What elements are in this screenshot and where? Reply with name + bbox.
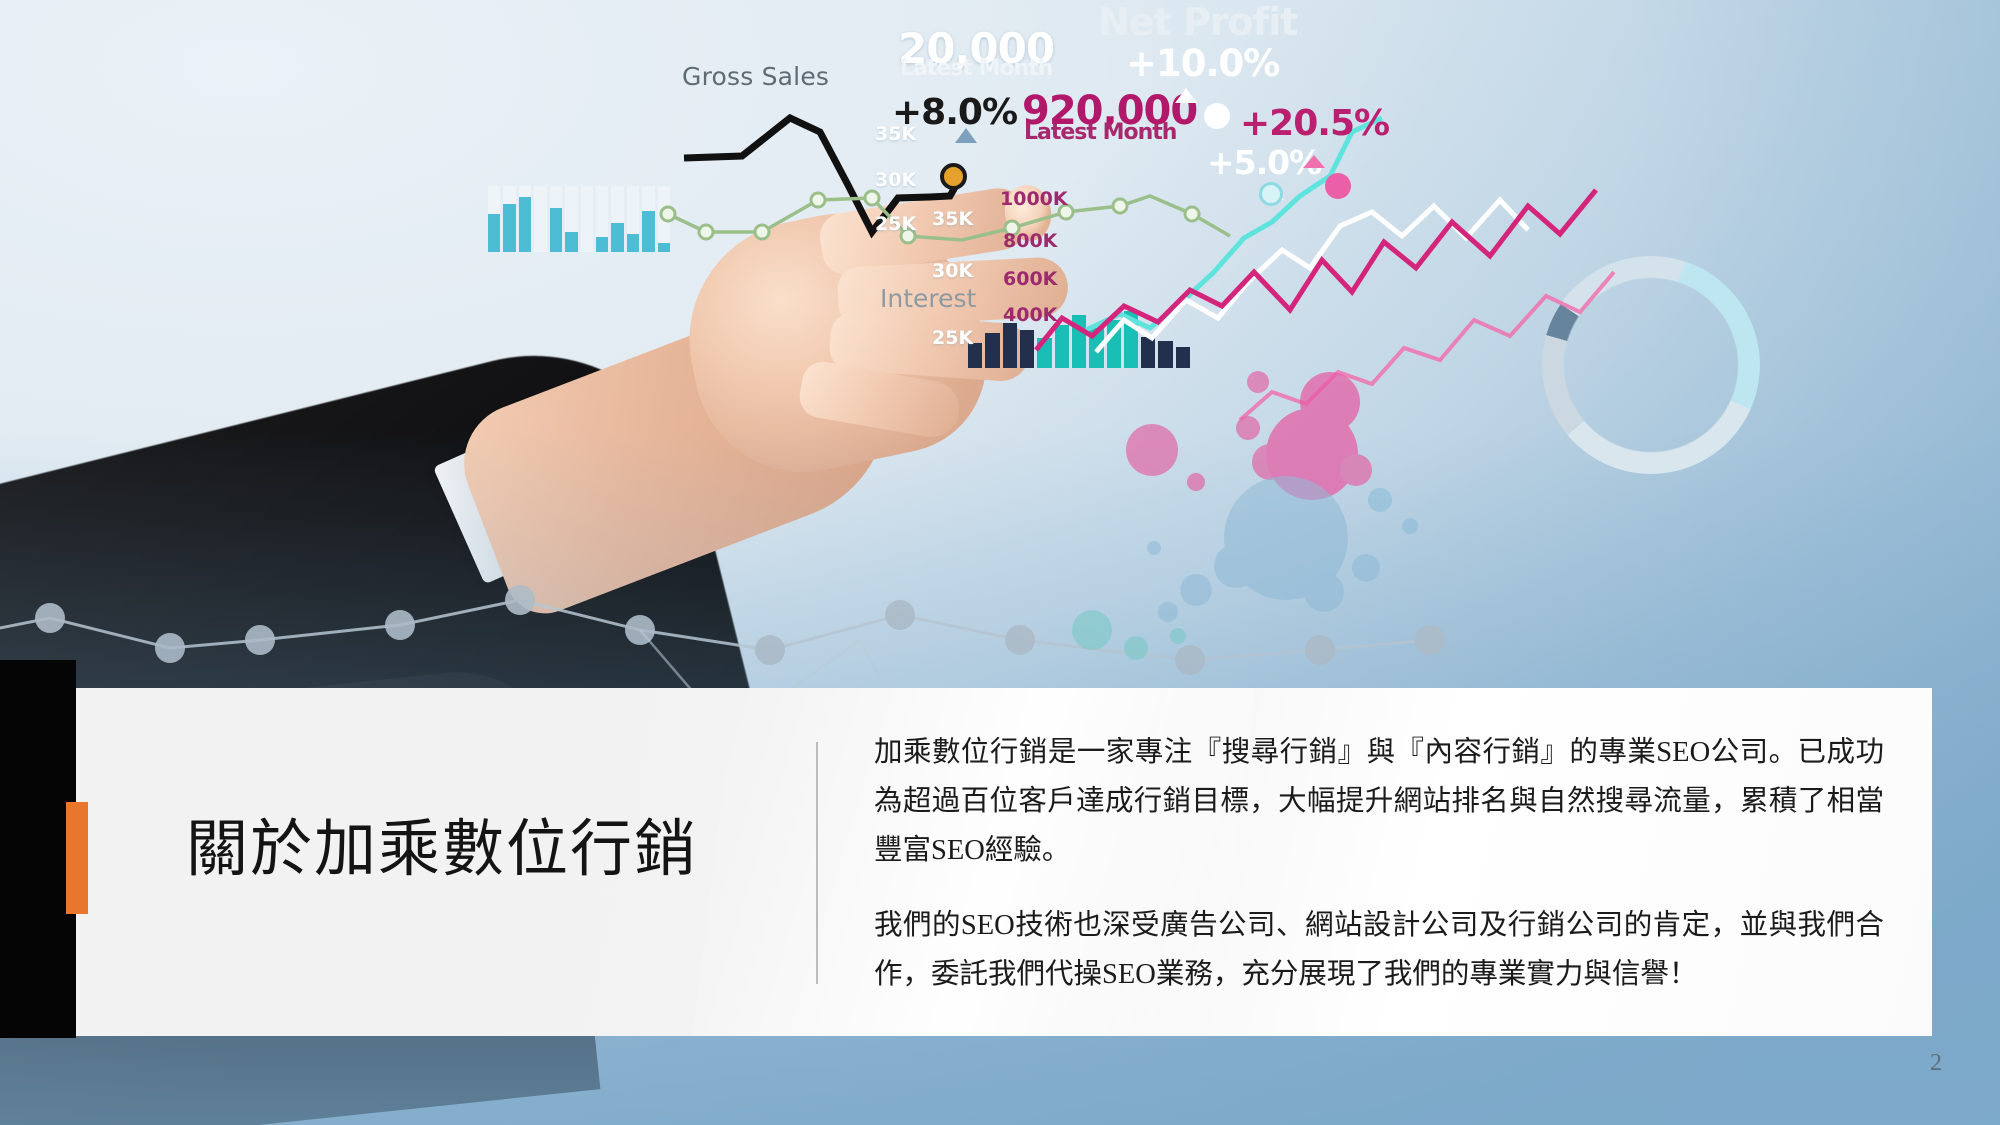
axis-label-primary-30k: 30K (875, 169, 916, 191)
gross-sales-label: Gross Sales (682, 62, 829, 91)
paragraph-2: 我們的SEO技術也深受廣告公司、網站設計公司及行銷公司的肯定，並與我們合作，委託… (874, 901, 1884, 999)
orange-accent-bar (66, 802, 88, 914)
donut-chart (1542, 256, 1760, 474)
paragraph-1: 加乘數位行銷是一家專注『搜尋行銷』與『內容行銷』的專業SEO公司。已成功為超過百… (874, 728, 1884, 875)
body-text-column: 加乘數位行銷是一家專注『搜尋行銷』與『內容行銷』的專業SEO公司。已成功為超過百… (874, 728, 1884, 999)
revenue-value: 920,000 (1022, 88, 1197, 134)
white-marker-dot (1204, 103, 1230, 129)
cyan-bar-chart (488, 186, 670, 252)
cyan-marker-dot (1259, 182, 1283, 206)
up-arrow-icon-white-2 (1262, 185, 1284, 200)
pink-marker-dot (1325, 173, 1351, 199)
revenue-change: +20.5% (1240, 103, 1389, 144)
axis-label-primary-35k: 35K (875, 123, 916, 145)
secondary-change: +5.0% (1207, 143, 1321, 182)
gross-sales-change: +8.0% (892, 92, 1017, 133)
revenue-caption: Latest Month (1024, 120, 1176, 145)
slide-root: Gross Sales Interest Net Profit +10.0% 2… (0, 0, 2000, 1125)
page-number: 2 (1930, 1050, 1942, 1077)
net-profit-line (1086, 118, 1382, 330)
gross-sales-caption: Latest Month (900, 56, 1052, 81)
vertical-divider (816, 742, 818, 984)
gross-sales-value: 20,000 (898, 24, 1054, 73)
up-arrow-icon-blue (955, 128, 977, 143)
left-black-bar (0, 660, 76, 1038)
up-arrow-icon-white (1175, 88, 1197, 103)
orange-marker-dot (940, 163, 967, 190)
growth-pink-line (1036, 190, 1596, 350)
trend-white-line (1096, 200, 1528, 352)
lower-pink-line (1240, 272, 1614, 420)
net-profit-label: Net Profit (1098, 0, 1297, 44)
up-arrow-icon-pink (1303, 155, 1325, 168)
net-profit-change: +10.0% (1126, 42, 1279, 85)
page-title: 關於加乘數位行銷 (186, 798, 698, 888)
